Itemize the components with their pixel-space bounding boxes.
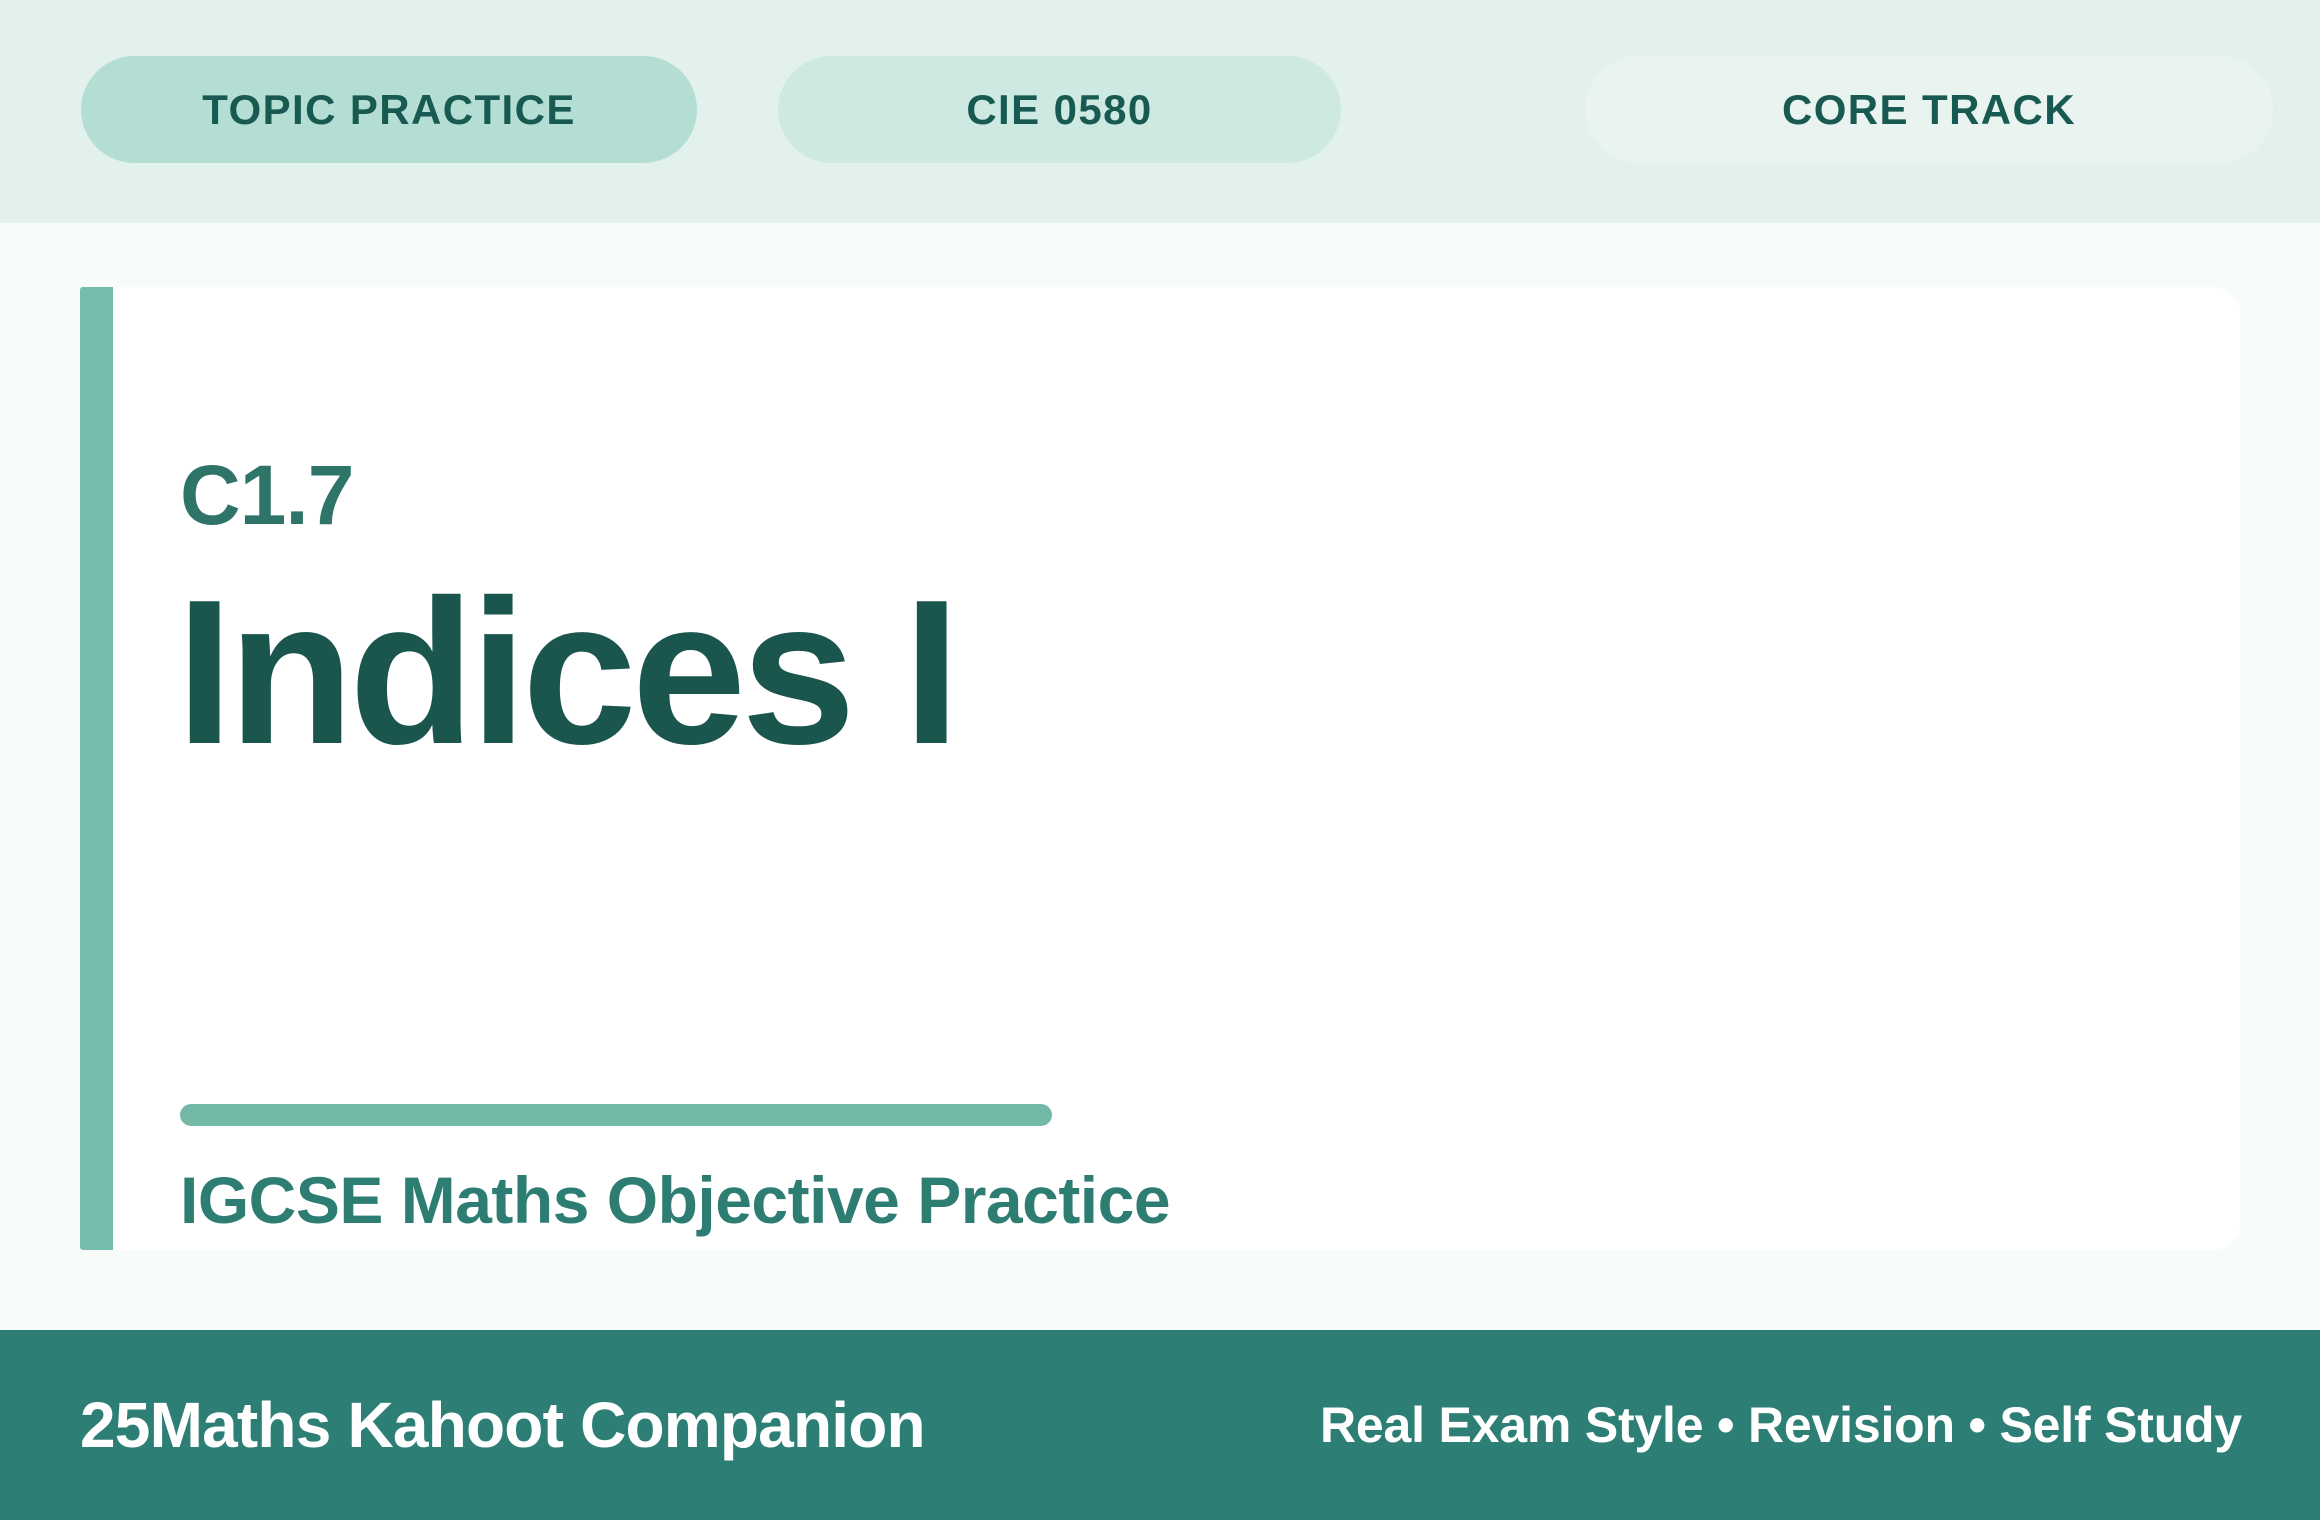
card-subtitle: IGCSE Maths Objective Practice [180, 1167, 1170, 1233]
topic-code: C1.7 [180, 453, 353, 537]
badge-topic-practice-label: TOPIC PRACTICE [202, 86, 576, 134]
topic-card: C1.7 Indices I IGCSE Maths Objective Pra… [80, 287, 2240, 1250]
main-stage: C1.7 Indices I IGCSE Maths Objective Pra… [0, 223, 2320, 1330]
badge-core-track-label: CORE TRACK [1782, 86, 2076, 134]
card-content: C1.7 Indices I IGCSE Maths Objective Pra… [180, 287, 2180, 1250]
footer-band: 25Maths Kahoot Companion Real Exam Style… [0, 1330, 2320, 1520]
badge-syllabus-code-label: CIE 0580 [966, 86, 1152, 134]
footer-brand: 25Maths Kahoot Companion [80, 1388, 925, 1462]
header-band: TOPIC PRACTICE CIE 0580 CORE TRACK [0, 0, 2320, 223]
badge-core-track[interactable]: CORE TRACK [1585, 56, 2273, 163]
page-title: Indices I [176, 569, 955, 775]
title-divider [180, 1104, 1052, 1126]
card-accent-bar [80, 287, 113, 1250]
badge-topic-practice[interactable]: TOPIC PRACTICE [81, 56, 697, 163]
badge-syllabus-code[interactable]: CIE 0580 [778, 56, 1341, 163]
footer-tagline: Real Exam Style • Revision • Self Study [1320, 1396, 2242, 1454]
card-body: C1.7 Indices I IGCSE Maths Objective Pra… [113, 287, 2240, 1250]
